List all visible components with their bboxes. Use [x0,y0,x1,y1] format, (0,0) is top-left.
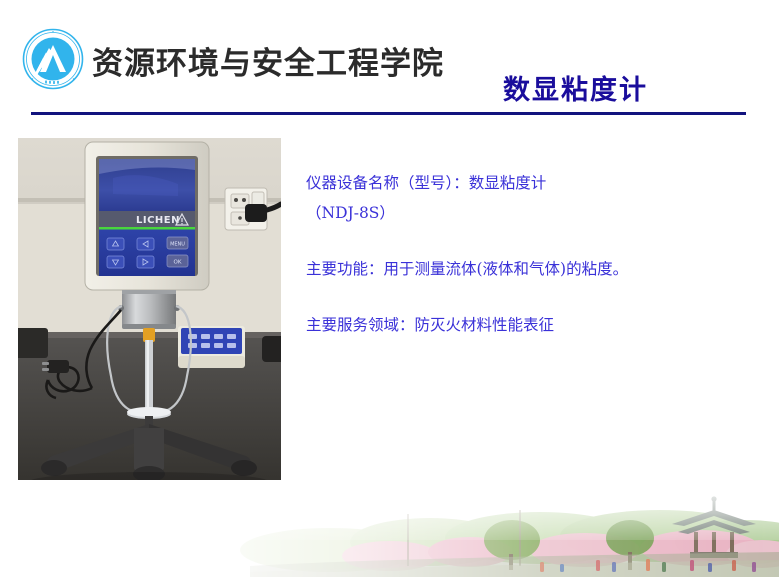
accessory-tray-illustration [178,326,245,368]
description-block: 仪器设备名称（型号）：数显粘度计 （NDJ-8S） 主要功能：用于测量流体(液体… [306,168,756,340]
svg-text:MENU: MENU [170,242,185,248]
svg-text:LICHEN: LICHEN [136,215,180,226]
svg-text:OK: OK [174,260,182,266]
school-name: 资源环境与安全工程学院 [92,38,444,83]
university-logo [22,28,84,90]
slide-canvas: 资源环境与安全工程学院 数显粘度计 [0,0,779,577]
equipment-model-line: （NDJ-8S） [306,198,756,228]
slide-title: 数显粘度计 [503,68,648,107]
main-function-line: 主要功能：用于测量流体(液体和气体)的粘度。 [306,254,756,284]
spacer-2 [306,284,756,310]
viscometer-photo-illustration: LICHEN MENU [18,138,281,483]
campus-scene-illustration [0,480,779,577]
equipment-name-line: 仪器设备名称（型号）：数显粘度计 [306,168,756,198]
viscometer-head: LICHEN MENU [85,142,209,290]
equipment-photo: LICHEN MENU [18,138,281,483]
spacer-1 [306,228,756,254]
slide-header: 资源环境与安全工程学院 数显粘度计 [0,0,779,116]
footer-decoration [0,480,779,577]
service-field-line: 主要服务领域：防灭火材料性能表征 [306,310,756,340]
header-divider [31,112,746,115]
seal-icon [22,28,84,90]
